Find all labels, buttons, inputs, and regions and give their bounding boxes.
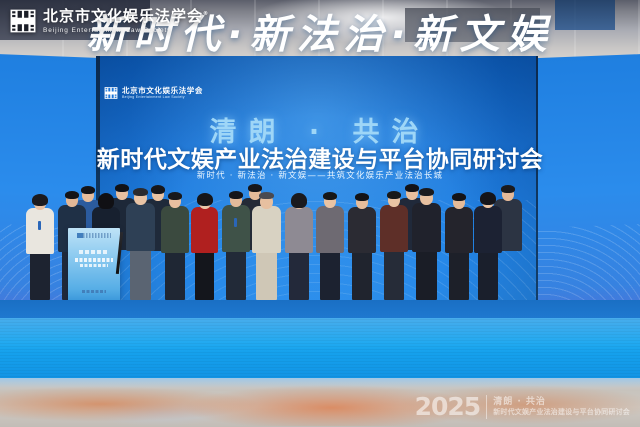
watermark-title: 新时代文娱产业法治建设与平台协同研讨会: [493, 408, 630, 416]
badge-lanyard: [234, 218, 237, 227]
watermark-society-logo: 北京市文化娱乐法学会® Beijing Entertainment Law So…: [10, 9, 209, 34]
watermark-year: 2025: [415, 394, 481, 419]
podium-title-line-1: [75, 258, 113, 262]
event-photo-screenshot: 北京市文化娱乐法学会 Beijing Entertainment Law Soc…: [0, 0, 640, 427]
podium-theme-line: [79, 250, 109, 254]
watermark-theme: 清朗 · 共治: [493, 397, 630, 408]
podium-footer-line: [82, 290, 106, 293]
led-banner-strip: [0, 318, 640, 380]
bottom-watermark: 2025 清朗 · 共治 新时代文娱产业法治建设与平台协同研讨会: [415, 394, 630, 419]
watermark-logo-text: 北京市文化娱乐法学会® Beijing Entertainment Law So…: [43, 9, 209, 34]
badge-lanyard: [38, 221, 41, 230]
watermark-text-block: 清朗 · 共治 新时代文娱产业法治建设与平台协同研讨会: [493, 397, 630, 416]
film-frame-logo-icon: [10, 9, 36, 33]
podium-logo: [77, 233, 111, 238]
watermark-divider: [486, 395, 487, 419]
led-strip-scanlines: [0, 318, 640, 380]
watermark-logo-cn: 北京市文化娱乐法学会®: [43, 9, 209, 25]
registered-mark: ®: [203, 11, 209, 17]
watermark-logo-en: Beijing Entertainment Law Society: [43, 27, 209, 34]
podium-title-line-2: [80, 264, 108, 267]
podium-lectern: [68, 228, 120, 306]
